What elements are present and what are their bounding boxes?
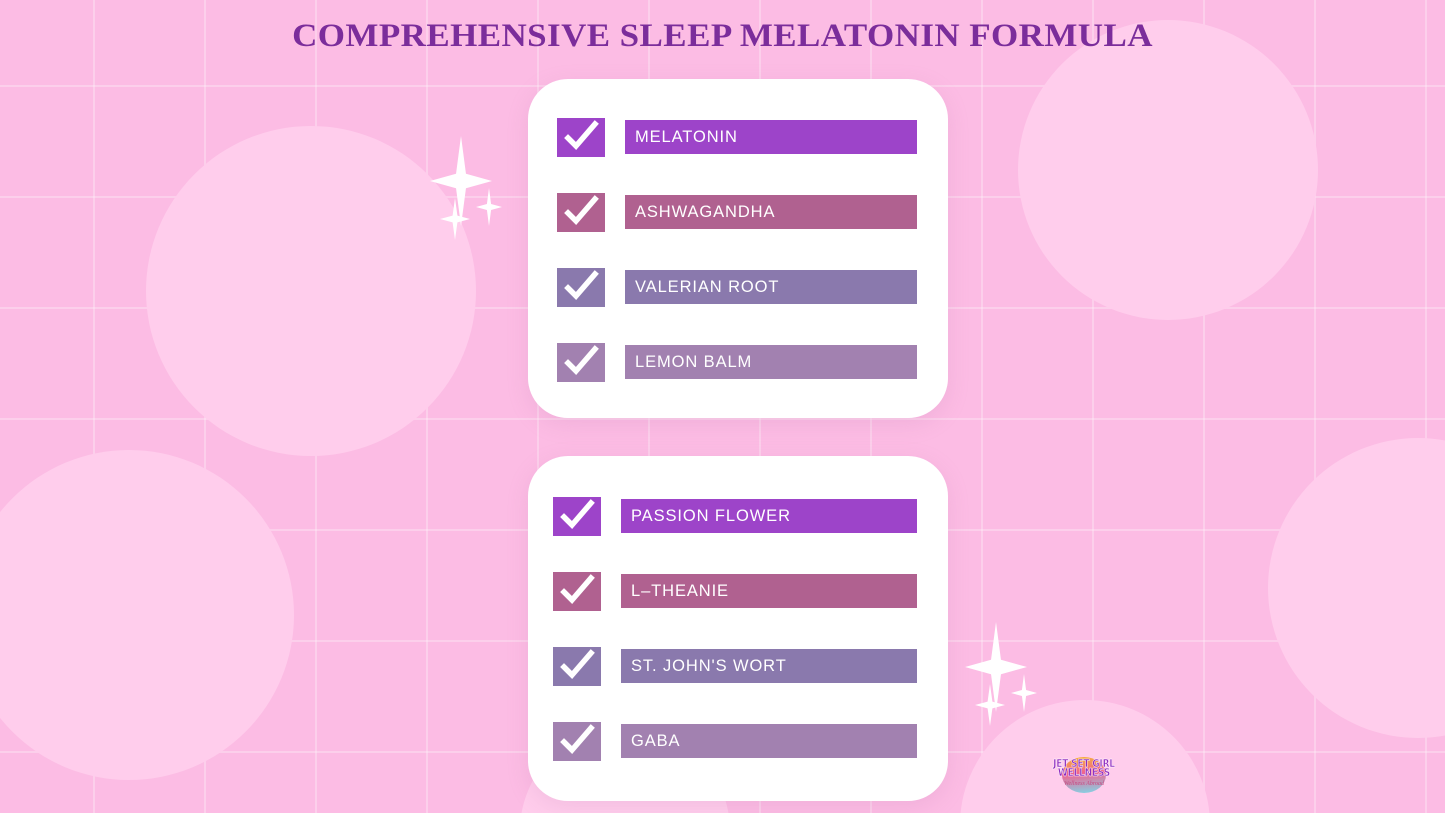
- list-item[interactable]: VALERIAN ROOT: [528, 267, 948, 307]
- brand-logo-watermark: JET SET GIRL WELLNESS Wellness Abroad: [1046, 755, 1122, 793]
- checkbox-checked[interactable]: [557, 343, 605, 382]
- ingredient-label-bar: VALERIAN ROOT: [625, 270, 917, 304]
- ingredient-card-2: PASSION FLOWER L–THEANIE ST. JOHN'S WORT…: [528, 456, 948, 801]
- ingredient-name: ASHWAGANDHA: [635, 203, 775, 222]
- sparkle-icon: [1011, 674, 1037, 712]
- checkbox-checked[interactable]: [553, 497, 601, 536]
- list-item[interactable]: L–THEANIE: [528, 571, 948, 611]
- list-item[interactable]: PASSION FLOWER: [528, 496, 948, 536]
- brand-line-3: Wellness Abroad: [1064, 781, 1104, 787]
- checkbox-checked[interactable]: [557, 118, 605, 157]
- page-title: COMPREHENSIVE SLEEP MELATONIN FORMULA: [0, 18, 1445, 55]
- background-circle: [0, 450, 294, 780]
- ingredient-label-bar: L–THEANIE: [621, 574, 917, 608]
- sparkle-icon: [440, 198, 470, 240]
- ingredient-name: L–THEANIE: [631, 582, 729, 601]
- background-circle: [146, 126, 476, 456]
- sparkle-icon: [430, 136, 492, 226]
- brand-logo-text: JET SET GIRL WELLNESS Wellness Abroad: [1046, 755, 1122, 793]
- ingredient-label-bar: MELATONIN: [625, 120, 917, 154]
- list-item[interactable]: LEMON BALM: [528, 342, 948, 382]
- ingredient-label-bar: ST. JOHN'S WORT: [621, 649, 917, 683]
- background-circle: [1268, 438, 1445, 738]
- checkbox-checked[interactable]: [553, 572, 601, 611]
- ingredient-name: ST. JOHN'S WORT: [631, 657, 787, 676]
- sparkle-icon: [965, 622, 1027, 712]
- ingredient-name: GABA: [631, 732, 680, 751]
- ingredient-card-1: MELATONIN ASHWAGANDHA VALERIAN ROOT LEMO…: [528, 79, 948, 418]
- list-item[interactable]: MELATONIN: [528, 117, 948, 157]
- brand-line-2: WELLNESS: [1058, 770, 1110, 781]
- sparkle-icon: [476, 188, 502, 226]
- background-circle: [1018, 20, 1318, 320]
- list-item[interactable]: ASHWAGANDHA: [528, 192, 948, 232]
- checkbox-checked[interactable]: [557, 193, 605, 232]
- ingredient-label-bar: PASSION FLOWER: [621, 499, 917, 533]
- checkbox-checked[interactable]: [557, 268, 605, 307]
- ingredient-label-bar: GABA: [621, 724, 917, 758]
- list-item[interactable]: GABA: [528, 721, 948, 761]
- checkbox-checked[interactable]: [553, 647, 601, 686]
- ingredient-label-bar: ASHWAGANDHA: [625, 195, 917, 229]
- ingredient-name: VALERIAN ROOT: [635, 278, 779, 297]
- ingredient-name: PASSION FLOWER: [631, 507, 791, 526]
- ingredient-label-bar: LEMON BALM: [625, 345, 917, 379]
- sparkle-icon: [975, 684, 1005, 726]
- ingredient-name: MELATONIN: [635, 128, 738, 147]
- list-item[interactable]: ST. JOHN'S WORT: [528, 646, 948, 686]
- checkbox-checked[interactable]: [553, 722, 601, 761]
- ingredient-name: LEMON BALM: [635, 353, 752, 372]
